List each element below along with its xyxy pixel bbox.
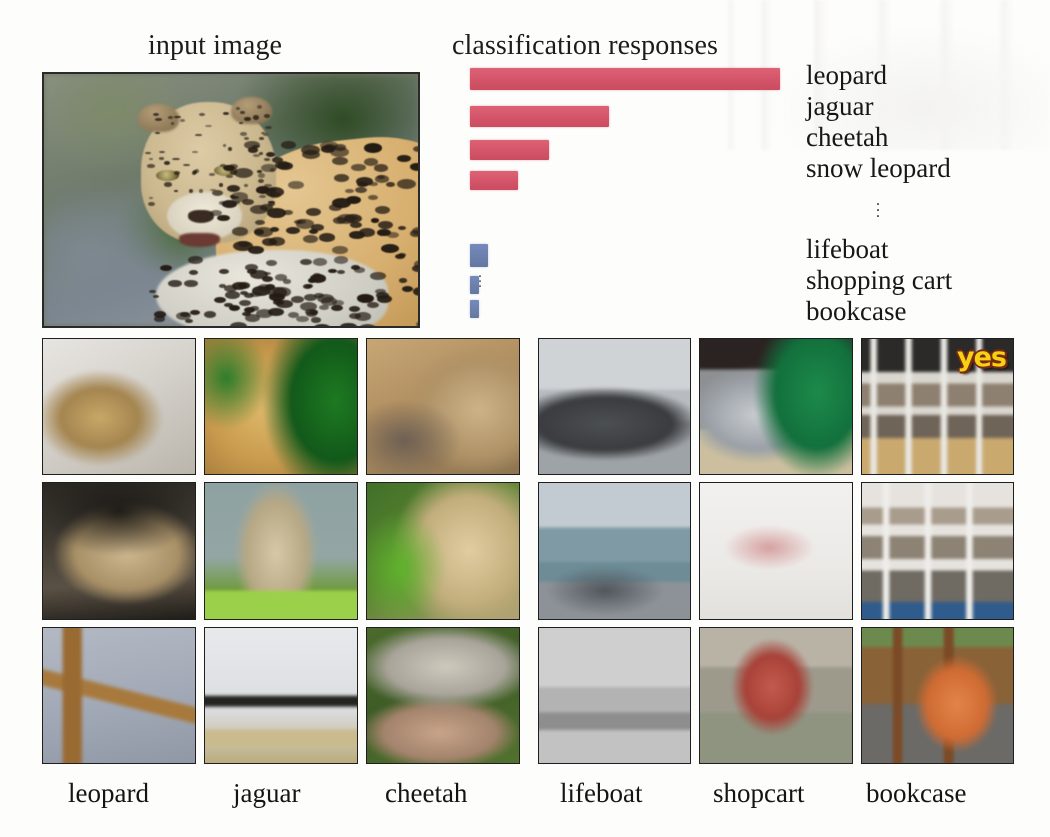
leopard-spot (204, 311, 216, 318)
leopard-spot (230, 195, 235, 199)
leopard-spot (250, 306, 258, 311)
leopard-spot (375, 206, 390, 214)
leopard-spot (225, 291, 240, 299)
thumbnail-shopping-cart-white (699, 482, 852, 619)
leopard-spot (270, 227, 279, 232)
leopard-spot (183, 164, 191, 166)
class-label-leopard: leopard (806, 60, 951, 91)
leopard-spot (398, 226, 406, 230)
submarine-hull-yard-render (538, 338, 691, 475)
thumbnail-leopard-on-rock (42, 482, 196, 619)
leopard-spot (217, 215, 229, 221)
leopard-spot (205, 125, 212, 127)
leopard-spot (174, 116, 181, 119)
harbor-warship-render (538, 482, 691, 619)
leopard-spot (332, 198, 351, 208)
page-title-input-image: input image (148, 30, 282, 62)
page-title-classification-responses: classification responses (452, 30, 718, 62)
label-list-ellipsis: ... (871, 198, 885, 216)
leopard-spot (273, 287, 291, 297)
leopard-spot (174, 190, 177, 192)
leopard-spot (264, 184, 272, 187)
leopard-spot (263, 133, 268, 135)
figure-root: input image classification responses ...… (0, 0, 1050, 837)
leopard-spot (416, 320, 420, 328)
leopard-spot (395, 254, 405, 259)
leopard-spot (159, 157, 164, 159)
leopard-spot (364, 143, 382, 153)
leopard-spot (259, 152, 263, 155)
leopard-spot (188, 256, 203, 264)
leopard-in-tree-render (42, 338, 196, 475)
leopard-spot (184, 280, 198, 288)
leopard-spot (268, 308, 283, 316)
leopard-spot (252, 145, 260, 148)
leopard-spot (168, 116, 174, 119)
leopard-spot (319, 305, 329, 310)
leopard-spots (44, 74, 418, 326)
class-label-snow-leopard: snow leopard (806, 153, 951, 184)
leopard-spot (149, 197, 153, 200)
leopard-spot (268, 201, 274, 203)
thumbnail-white-bookcase-room: yes (861, 338, 1014, 475)
leopard-spot (399, 278, 407, 282)
leopard-spot (386, 182, 396, 187)
leopard-spot (247, 269, 257, 274)
leopard-spot (277, 162, 293, 170)
leopard-spot (305, 309, 318, 316)
leopard-spot (310, 274, 325, 282)
leopard-spot (259, 195, 266, 198)
leopard-spot (410, 230, 420, 236)
leopard-spot (180, 119, 185, 122)
jaguar-behind-fence-render (204, 627, 358, 764)
thumbnail-cheetahs-on-sand (366, 338, 520, 475)
leopard-spot (258, 179, 264, 183)
bar-leopard (470, 68, 780, 90)
class-label-cheetah: cheetah (806, 122, 951, 153)
leopard-spot (402, 286, 414, 292)
leopard-spot (189, 270, 198, 275)
leopard-spot (369, 182, 378, 187)
leopard-spot (357, 182, 368, 188)
thumbnail-jaguar-in-grass (204, 338, 358, 475)
thumbnail-cheetah-cub-grass (204, 482, 358, 619)
leopard-spot (264, 272, 271, 276)
boat-grey-sea-render (538, 627, 691, 764)
retrieved-images-grid-animals (42, 338, 520, 764)
leopard-spot (288, 181, 304, 189)
leopard-spot (311, 224, 324, 231)
class-label-list-bottom: lifeboatshopping cartbookcase (806, 234, 952, 327)
leopard-spot (171, 122, 175, 125)
leopard-spot (149, 290, 156, 294)
leopard-spot (350, 222, 361, 228)
thumbnail-jaguar-behind-fence (204, 627, 358, 764)
leopard-tree-trunk-render (42, 627, 196, 764)
leopard-spot (240, 132, 247, 136)
leopard-spot (226, 175, 233, 178)
leopard-spot (168, 280, 183, 288)
leopard-spot (340, 323, 357, 328)
retrieved-images-grid-objects: yes (538, 338, 1014, 764)
leopard-spot (269, 237, 285, 246)
cheetah-cub-grass-render (204, 482, 358, 619)
thumbnail-carts-by-green-wall (699, 338, 852, 475)
leopard-spot (199, 113, 205, 116)
leopard-spot (319, 233, 335, 241)
class-label-list-top: leopardjaguarcheetahsnow leopard (806, 60, 951, 184)
leopard-spot (195, 169, 199, 173)
leopard-spot (377, 295, 392, 303)
column-caption-leopard: leopard (68, 778, 149, 809)
leopard-spot (311, 317, 321, 322)
leopard-spot (160, 265, 172, 271)
leopard-spot (219, 269, 229, 275)
leopard-spot (371, 218, 379, 222)
leopard-spot (219, 183, 223, 187)
leopard-spot (367, 302, 379, 308)
leopard-spot (270, 168, 276, 171)
bar-cheetah (470, 140, 549, 160)
leopard-spot (244, 184, 248, 187)
leopard-spot (397, 179, 416, 189)
leopard-spot (337, 270, 345, 274)
leopard-spot (244, 137, 249, 140)
leopard-spot (153, 113, 159, 116)
leopard-spot (368, 195, 377, 200)
class-label-jaguar: jaguar (806, 91, 951, 122)
thumbnail-leopard-tree-trunk (42, 627, 196, 764)
leopard-spot (283, 210, 293, 215)
thumbnail-bookcase-interior (861, 482, 1014, 619)
cheetah-with-prey-render (366, 627, 520, 764)
leopard-spot (355, 312, 372, 321)
leopard-spot (381, 244, 399, 254)
leopard-spot (244, 117, 251, 121)
leopard-spot (145, 152, 151, 154)
bar-jaguar (470, 106, 609, 127)
leopard-spot (265, 126, 271, 129)
leopard-spot (258, 284, 270, 291)
thumbnail-leopard-in-tree (42, 338, 196, 475)
leopard-spot (334, 174, 349, 182)
leopard-spot (354, 267, 365, 273)
leopard-spot (297, 219, 305, 223)
column-caption-jaguar: jaguar (233, 778, 300, 809)
leopard-spot (264, 158, 270, 160)
column-caption-shopcart: shopcart (713, 778, 804, 809)
leopard-spot (223, 112, 229, 115)
bar-bookcase (470, 300, 479, 318)
leopard-spot (240, 111, 245, 115)
leopard-spot (332, 157, 348, 165)
leopard-spot (192, 151, 198, 153)
leopard-spot (154, 316, 164, 322)
leopard-spot (210, 210, 222, 216)
leopard-spot (378, 221, 393, 229)
class-label-lifeboat: lifeboat (806, 234, 952, 265)
class-label-bookcase: bookcase (806, 296, 952, 327)
leopard-spot (255, 220, 265, 225)
leopard-spot (155, 118, 162, 121)
leopard-spot (209, 173, 215, 176)
leopard-spot (345, 189, 354, 194)
yes-overlay-text: yes (957, 342, 1006, 373)
thumbnail-boat-grey-sea (538, 627, 691, 764)
leopard-spot (238, 241, 249, 247)
leopard-spot (195, 134, 202, 137)
leopard-spot (219, 201, 226, 204)
leopard-spot (328, 269, 337, 273)
leopard-spot (266, 260, 277, 266)
thumbnail-submarine-hull-yard (538, 338, 691, 475)
leopard-spot (228, 147, 233, 152)
leopard-spot (149, 158, 153, 160)
leopard-spot (232, 282, 247, 290)
leopard-spot (313, 258, 327, 266)
leopard-spot (331, 305, 343, 312)
leopard-spot (199, 189, 203, 194)
thumbnail-cheetah-with-prey (366, 627, 520, 764)
people-pulling-cart-render (699, 627, 852, 764)
thumbnail-person-moving-bookcase (861, 627, 1014, 764)
leopard-spot (332, 246, 347, 254)
leopard-spot (259, 137, 265, 140)
input-image-photo (42, 72, 420, 328)
leopard-spot (266, 152, 275, 157)
leopard-spot (232, 227, 248, 236)
leopard-spot (245, 314, 260, 322)
leopard-spot (283, 279, 291, 283)
classification-bar-chart: ... (470, 66, 800, 322)
bar-shopping-cart (470, 276, 479, 294)
leopard-spot (355, 187, 367, 193)
leopard-spot (349, 306, 360, 312)
leopard-spot (397, 155, 411, 162)
leopard-spot (351, 164, 365, 172)
leopard-scene (44, 74, 418, 326)
leopard-spot (359, 324, 376, 328)
column-caption-bookcase: bookcase (866, 778, 966, 809)
bar-snow-leopard (470, 171, 518, 190)
column-caption-lifeboat: lifeboat (560, 778, 642, 809)
leopard-spot (413, 287, 420, 295)
leopard-spot (190, 310, 200, 315)
leopard-spot (164, 161, 170, 165)
jaguar-in-grass-render (204, 338, 358, 475)
leopard-spot (258, 173, 265, 177)
leopard-spot (234, 201, 240, 204)
person-moving-bookcase-render (861, 627, 1014, 764)
leopard-spot (164, 182, 172, 186)
thumbnail-people-pulling-cart (699, 627, 852, 764)
thumbnail-harbor-warship (538, 482, 691, 619)
leopard-spot (370, 272, 386, 280)
shopping-cart-white-render (699, 482, 852, 619)
leopard-spot (413, 146, 420, 153)
cheetah-face-closeup-render (366, 482, 520, 619)
leopard-spot (254, 229, 264, 234)
leopard-spot (303, 284, 312, 289)
class-label-shopping-cart: shopping cart (806, 265, 952, 296)
leopard-spot (334, 256, 348, 263)
leopard-spot (230, 170, 237, 174)
leopard-spot (300, 259, 312, 265)
cheetahs-on-sand-render (366, 338, 520, 475)
leopard-spot (264, 114, 270, 118)
leopard-spot (147, 164, 154, 168)
leopard-spot (153, 295, 159, 298)
bar-lifeboat (470, 244, 488, 267)
leopard-spot (250, 205, 268, 215)
leopard-spot (253, 115, 259, 120)
carts-by-green-wall-render (699, 338, 852, 475)
leopard-spot (155, 132, 161, 134)
leopard-spot (172, 158, 180, 160)
leopard-spot (359, 228, 375, 237)
column-caption-cheetah: cheetah (385, 778, 467, 809)
leopard-spot (281, 141, 296, 149)
leopard-spot (227, 185, 240, 192)
leopard-spot (286, 227, 300, 235)
leopard-spot (374, 164, 388, 172)
leopard-spot (261, 189, 269, 193)
leopard-spot (313, 324, 331, 328)
leopard-spot (189, 189, 193, 193)
leopard-spot (185, 319, 193, 323)
leopard-spot (236, 107, 240, 110)
leopard-spot (214, 297, 226, 304)
leopard-spot (257, 105, 262, 109)
leopard-spot (244, 293, 253, 298)
leopard-spot (230, 322, 247, 328)
leopard-spot (410, 163, 421, 171)
leopard-spot (239, 300, 251, 306)
leopard-spot (303, 235, 318, 243)
leopard-spot (377, 230, 389, 236)
leopard-spot (239, 122, 244, 124)
leopard-spot (306, 208, 322, 216)
bookcase-interior-render (861, 482, 1014, 619)
leopard-on-rock-render (42, 482, 196, 619)
leopard-spot (414, 260, 420, 268)
leopard-spot (159, 151, 165, 153)
leopard-spot (148, 202, 155, 206)
leopard-spot (174, 171, 180, 175)
thumbnail-cheetah-face-closeup (366, 482, 520, 619)
leopard-spot (223, 144, 226, 146)
